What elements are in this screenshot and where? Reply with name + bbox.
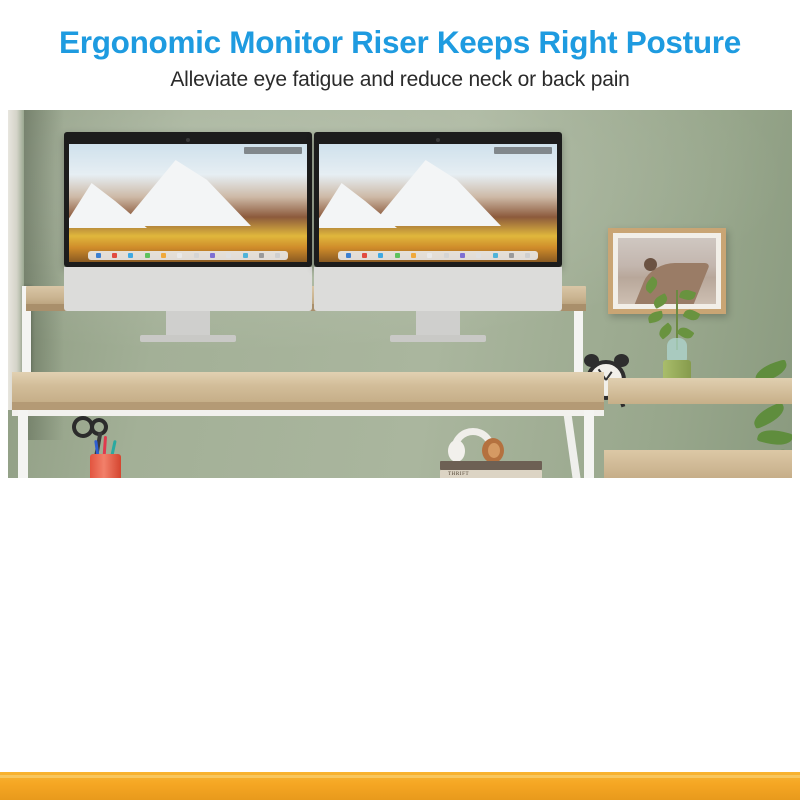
- desk-surface: [12, 372, 604, 406]
- side-plant-leaf: [750, 402, 787, 430]
- right-monitor-chin: [314, 267, 562, 311]
- dock-icon-messages[interactable]: [145, 253, 150, 258]
- art-hill-shape: [632, 263, 709, 304]
- product-photo: THRIFT EPSON: [8, 110, 792, 478]
- dock-icon-settings[interactable]: [259, 253, 264, 258]
- webcam-icon: [186, 138, 190, 142]
- book-title: THRIFT: [448, 472, 469, 477]
- headphone-earcup-left: [448, 440, 465, 462]
- right-monitor-screen: [319, 144, 557, 262]
- dock-icon-launchpad[interactable]: [112, 253, 117, 258]
- page-subtitle: Alleviate eye fatigue and reduce neck or…: [0, 68, 800, 92]
- macos-dock: [338, 251, 538, 260]
- dock-icon-appstore[interactable]: [243, 253, 248, 258]
- dock-icon-finder[interactable]: [96, 253, 101, 258]
- pen-cup: [90, 454, 121, 478]
- desk-leg-left: [18, 410, 28, 478]
- header: Ergonomic Monitor Riser Keeps Right Post…: [0, 0, 800, 108]
- dock-icon-photos[interactable]: [210, 253, 215, 258]
- dock-icon-mail[interactable]: [411, 253, 416, 258]
- headphone-earcup-inner: [488, 443, 500, 458]
- dock-icon-music[interactable]: [476, 253, 481, 258]
- dock-icon-finder[interactable]: [346, 253, 351, 258]
- left-monitor-screen: [69, 144, 307, 262]
- dock-icon-music[interactable]: [226, 253, 231, 258]
- dock-icon-messages[interactable]: [395, 253, 400, 258]
- dock-icon-trash[interactable]: [525, 253, 530, 258]
- floor-wood: [604, 450, 792, 478]
- side-plant-leaf: [757, 426, 792, 449]
- macos-dock: [88, 251, 288, 260]
- dock-icon-reminders[interactable]: [444, 253, 449, 258]
- wall-art-frame: [608, 228, 726, 314]
- screen-menubar: [494, 147, 552, 154]
- wallpaper-peak: [371, 160, 501, 226]
- screen-menubar: [244, 147, 302, 154]
- webcam-icon: [436, 138, 440, 142]
- right-monitor-base: [390, 335, 486, 342]
- dock-icon-notes[interactable]: [177, 253, 182, 258]
- dock-icon-appstore[interactable]: [493, 253, 498, 258]
- dock-icon-safari[interactable]: [128, 253, 133, 258]
- right-monitor: [314, 132, 562, 342]
- left-monitor-chin: [64, 267, 312, 311]
- posture-comparison-illustration: [0, 482, 800, 800]
- product-feature-image: Ergonomic Monitor Riser Keeps Right Post…: [0, 0, 800, 800]
- dock-icon-photos[interactable]: [460, 253, 465, 258]
- dock-icon-mail[interactable]: [161, 253, 166, 258]
- book: [440, 461, 542, 470]
- left-monitor-bezel: [64, 132, 312, 267]
- wall-art-image: [618, 238, 716, 304]
- page-title: Ergonomic Monitor Riser Keeps Right Post…: [0, 24, 800, 61]
- dock-icon-reminders[interactable]: [194, 253, 199, 258]
- floor-highlight-line: [0, 775, 800, 778]
- dock-icon-launchpad[interactable]: [362, 253, 367, 258]
- left-monitor: [64, 132, 312, 342]
- left-monitor-base: [140, 335, 236, 342]
- dock-icon-trash[interactable]: [275, 253, 280, 258]
- desk-apron: [12, 410, 604, 416]
- left-monitor-neck: [166, 311, 210, 335]
- desk-leg-right: [584, 410, 594, 478]
- right-monitor-bezel: [314, 132, 562, 267]
- right-monitor-neck: [416, 311, 460, 335]
- desk-surface-right: [608, 378, 792, 404]
- dock-icon-notes[interactable]: [427, 253, 432, 258]
- book-stack: THRIFT: [440, 461, 542, 478]
- dock-icon-settings[interactable]: [509, 253, 514, 258]
- dock-icon-safari[interactable]: [378, 253, 383, 258]
- wallpaper-peak: [121, 160, 251, 226]
